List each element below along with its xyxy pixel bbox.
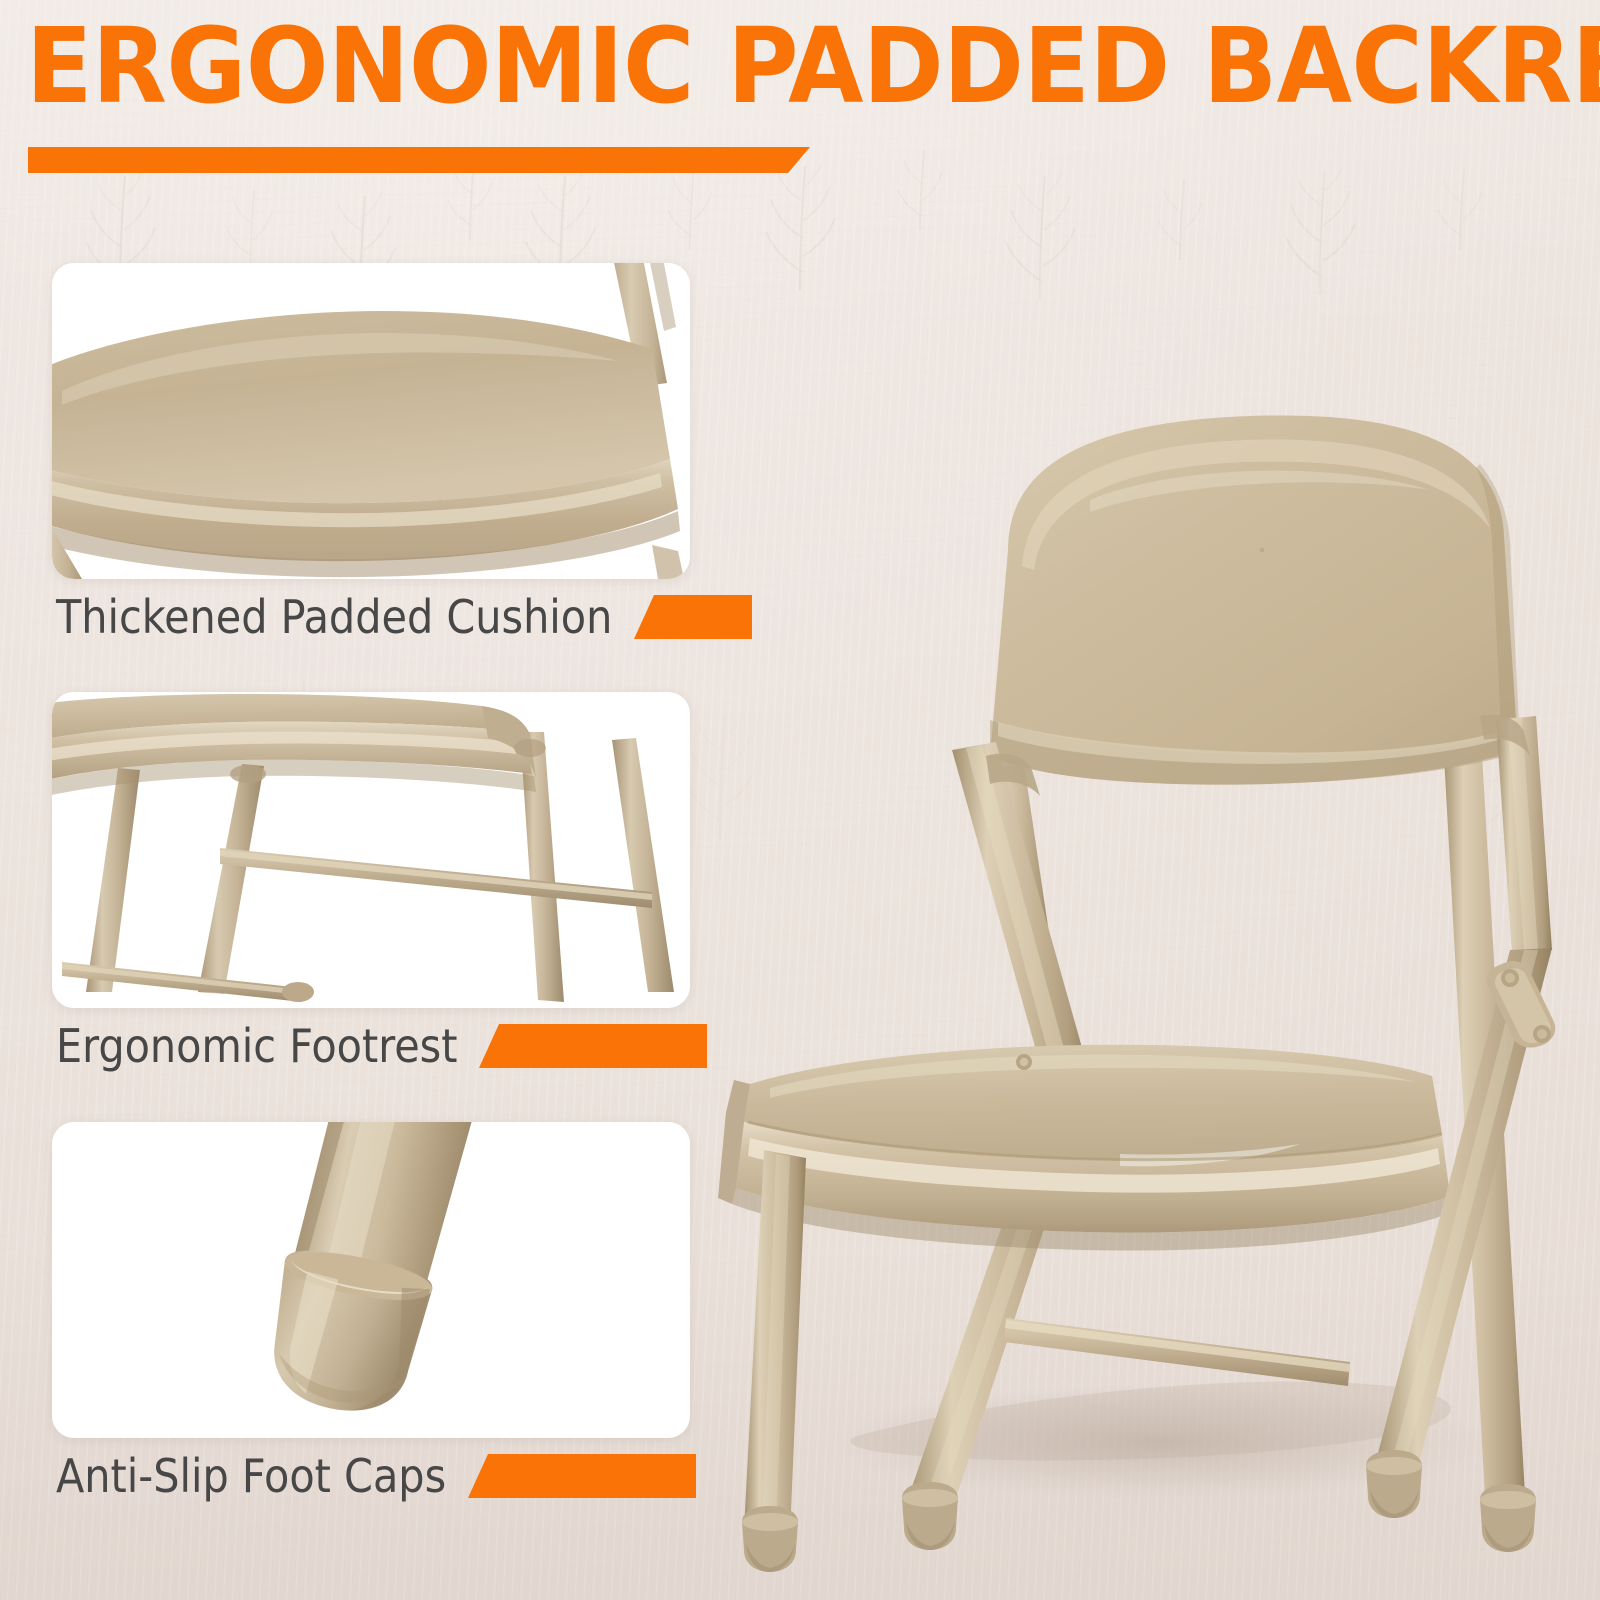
feature-row-footcaps: Anti-Slip Foot Caps: [56, 1445, 696, 1507]
feature-label-cushion: Thickened Padded Cushion: [56, 586, 612, 648]
feature-row-cushion: Thickened Padded Cushion: [56, 586, 752, 648]
feature-badge-footrest: [479, 1024, 707, 1068]
feature-badge-footcaps: [468, 1454, 696, 1498]
title-underline-bar: [28, 147, 810, 173]
feature-label-footrest: Ergonomic Footrest: [56, 1015, 457, 1077]
infographic-canvas: ERGONOMIC PADDED BACKREST: [0, 0, 1600, 1600]
feature-label-footcaps: Anti-Slip Foot Caps: [56, 1445, 446, 1507]
feature-row-footrest: Ergonomic Footrest: [56, 1015, 707, 1077]
feature-card-footcaps: [52, 1122, 690, 1438]
feature-card-footrest: [52, 692, 690, 1008]
hero-chair-image: [690, 250, 1590, 1580]
page-title: ERGONOMIC PADDED BACKREST: [26, 14, 1600, 118]
feature-card-cushion: [52, 263, 690, 579]
